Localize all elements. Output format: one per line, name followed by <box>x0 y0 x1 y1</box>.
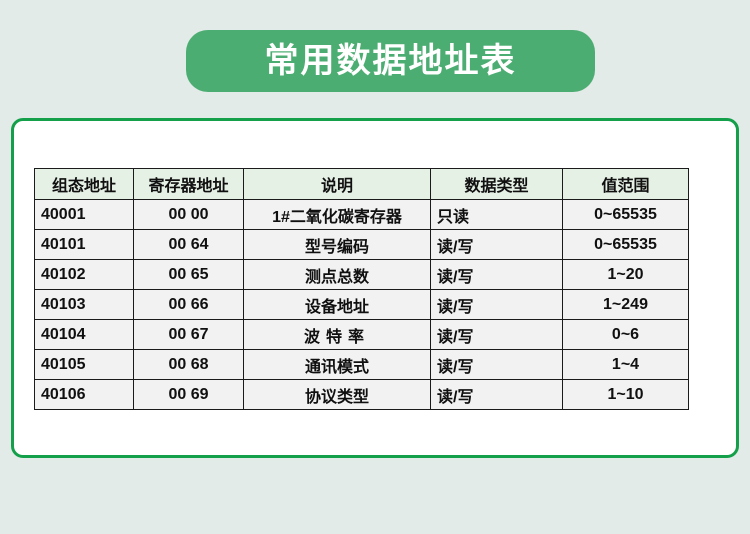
cell-addr: 40102 <box>35 260 134 290</box>
table-row: 40105 00 68 通讯模式 读/写 1~4 <box>35 350 689 380</box>
cell-desc: 波特率 <box>244 320 431 350</box>
cell-type: 读/写 <box>431 350 563 380</box>
cell-type: 读/写 <box>431 260 563 290</box>
cell-desc: 测点总数 <box>244 260 431 290</box>
table-row: 40106 00 69 协议类型 读/写 1~10 <box>35 380 689 410</box>
cell-addr: 40103 <box>35 290 134 320</box>
column-header-desc: 说明 <box>244 169 431 200</box>
column-header-addr: 组态地址 <box>35 169 134 200</box>
cell-range: 0~65535 <box>563 200 689 230</box>
cell-desc: 型号编码 <box>244 230 431 260</box>
cell-reg: 00 69 <box>134 380 244 410</box>
cell-addr: 40104 <box>35 320 134 350</box>
cell-desc: 协议类型 <box>244 380 431 410</box>
table-row: 40101 00 64 型号编码 读/写 0~65535 <box>35 230 689 260</box>
cell-addr: 40001 <box>35 200 134 230</box>
cell-type: 读/写 <box>431 290 563 320</box>
cell-addr: 40101 <box>35 230 134 260</box>
cell-range: 0~6 <box>563 320 689 350</box>
cell-range: 1~10 <box>563 380 689 410</box>
table-row: 40001 00 00 1#二氧化碳寄存器 只读 0~65535 <box>35 200 689 230</box>
column-header-type: 数据类型 <box>431 169 563 200</box>
cell-desc: 设备地址 <box>244 290 431 320</box>
cell-reg: 00 66 <box>134 290 244 320</box>
table-row: 40103 00 66 设备地址 读/写 1~249 <box>35 290 689 320</box>
cell-reg: 00 64 <box>134 230 244 260</box>
cell-range: 1~249 <box>563 290 689 320</box>
table-body: 40001 00 00 1#二氧化碳寄存器 只读 0~65535 40101 0… <box>35 200 689 410</box>
table-header: 组态地址 寄存器地址 说明 数据类型 值范围 <box>35 169 689 200</box>
page-title-badge: 常用数据地址表 <box>186 30 595 92</box>
cell-addr: 40106 <box>35 380 134 410</box>
cell-type: 读/写 <box>431 230 563 260</box>
cell-type: 读/写 <box>431 380 563 410</box>
cell-addr: 40105 <box>35 350 134 380</box>
cell-range: 1~20 <box>563 260 689 290</box>
cell-reg: 00 00 <box>134 200 244 230</box>
cell-type: 读/写 <box>431 320 563 350</box>
cell-reg: 00 68 <box>134 350 244 380</box>
table-row: 40102 00 65 测点总数 读/写 1~20 <box>35 260 689 290</box>
cell-reg: 00 67 <box>134 320 244 350</box>
table-row: 40104 00 67 波特率 读/写 0~6 <box>35 320 689 350</box>
cell-type: 只读 <box>431 200 563 230</box>
page-title: 常用数据地址表 <box>265 44 517 78</box>
column-header-range: 值范围 <box>563 169 689 200</box>
cell-desc: 1#二氧化碳寄存器 <box>244 200 431 230</box>
table-header-row: 组态地址 寄存器地址 说明 数据类型 值范围 <box>35 169 689 200</box>
cell-desc: 通讯模式 <box>244 350 431 380</box>
data-address-table: 组态地址 寄存器地址 说明 数据类型 值范围 40001 00 00 1#二氧化… <box>34 168 689 410</box>
cell-range: 1~4 <box>563 350 689 380</box>
cell-reg: 00 65 <box>134 260 244 290</box>
cell-range: 0~65535 <box>563 230 689 260</box>
column-header-reg: 寄存器地址 <box>134 169 244 200</box>
